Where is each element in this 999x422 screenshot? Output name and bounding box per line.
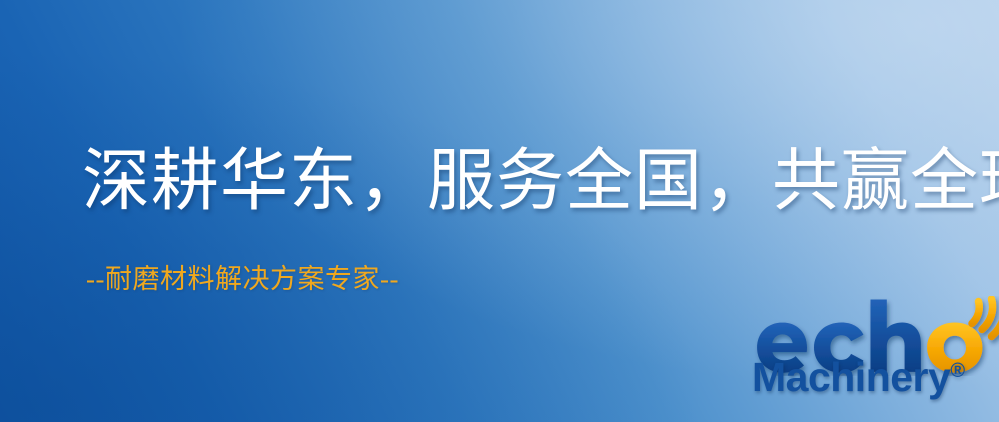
banner-headline: 深耕华东，服务全国，共赢全球 — [82, 147, 999, 215]
logo-tagline-text: Machinery — [752, 354, 950, 400]
registered-trademark-icon: ® — [950, 360, 965, 382]
hero-banner: 深耕华东，服务全国，共赢全球 --耐磨材料解决方案专家-- — [0, 0, 999, 422]
logo-tagline: Machinery® — [752, 357, 965, 398]
signal-arcs-icon — [972, 297, 999, 337]
banner-subtitle: --耐磨材料解决方案专家-- — [86, 266, 399, 293]
company-logo: Machinery® — [746, 296, 999, 422]
